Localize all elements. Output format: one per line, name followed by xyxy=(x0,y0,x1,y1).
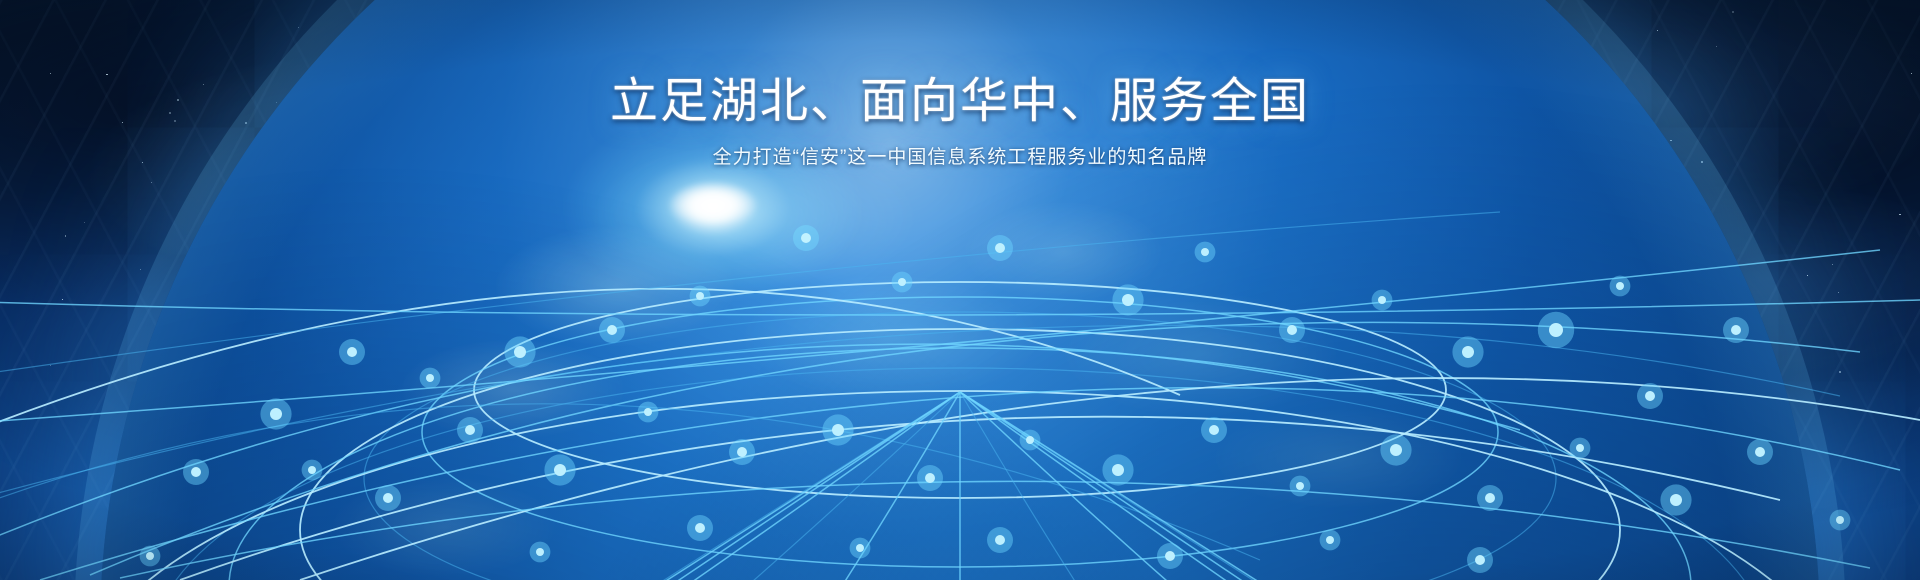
hero-banner: 立足湖北、面向华中、服务全国 全力打造“信安”这一中国信息系统工程服务业的知名品… xyxy=(0,0,1920,580)
banner-subheadline: 全力打造“信安”这一中国信息系统工程服务业的知名品牌 xyxy=(0,145,1920,172)
banner-copy: 立足湖北、面向华中、服务全国 全力打造“信安”这一中国信息系统工程服务业的知名品… xyxy=(0,74,1920,172)
banner-headline: 立足湖北、面向华中、服务全国 xyxy=(0,74,1920,129)
light-burst-core xyxy=(667,182,759,226)
